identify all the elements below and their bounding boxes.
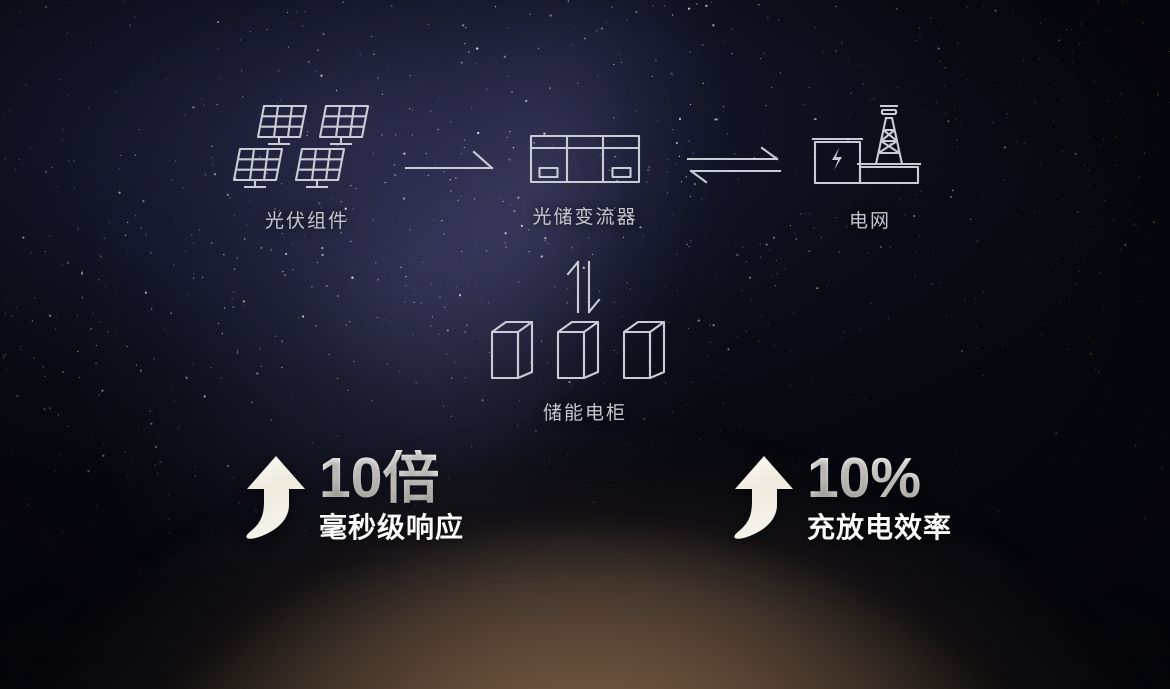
hybrid-inverter-icon	[512, 128, 658, 190]
power-grid-icon	[800, 104, 940, 194]
arrow-vertical-bidirectional-icon	[564, 258, 606, 316]
node-battery-cabinet: 储能电柜	[480, 314, 690, 425]
node-label-inverter: 光储变流器	[512, 202, 658, 229]
stat-value-response: 10倍	[319, 450, 464, 507]
arrow-right-icon	[404, 146, 496, 182]
node-label-grid: 电网	[800, 206, 940, 233]
slide-canvas: 光伏组件 光储变流器	[0, 0, 1170, 689]
node-solar-panel: 光伏组件	[232, 104, 382, 233]
node-label-solar-panel: 光伏组件	[232, 206, 382, 233]
stats-row: 10倍 毫秒级响应 10% 充放电效率	[0, 440, 1170, 560]
arrow-bidirectional-icon	[684, 144, 784, 186]
solar-panel-array-icon	[232, 104, 382, 194]
stat-caption-efficiency: 充放电效率	[807, 514, 952, 542]
stat-efficiency: 10% 充放电效率	[733, 450, 952, 542]
stat-text-response: 10倍 毫秒级响应	[319, 450, 464, 542]
up-arrow-icon	[733, 456, 795, 540]
stat-text-efficiency: 10% 充放电效率	[807, 450, 952, 542]
stat-response: 10倍 毫秒级响应	[245, 450, 464, 542]
node-grid: 电网	[800, 104, 940, 233]
battery-cabinet-icon	[480, 314, 690, 386]
stat-value-efficiency: 10%	[807, 450, 952, 507]
up-arrow-icon	[245, 456, 307, 540]
node-inverter: 光储变流器	[512, 128, 658, 229]
stat-caption-response: 毫秒级响应	[319, 514, 464, 542]
node-label-battery-cabinet: 储能电柜	[480, 398, 690, 425]
